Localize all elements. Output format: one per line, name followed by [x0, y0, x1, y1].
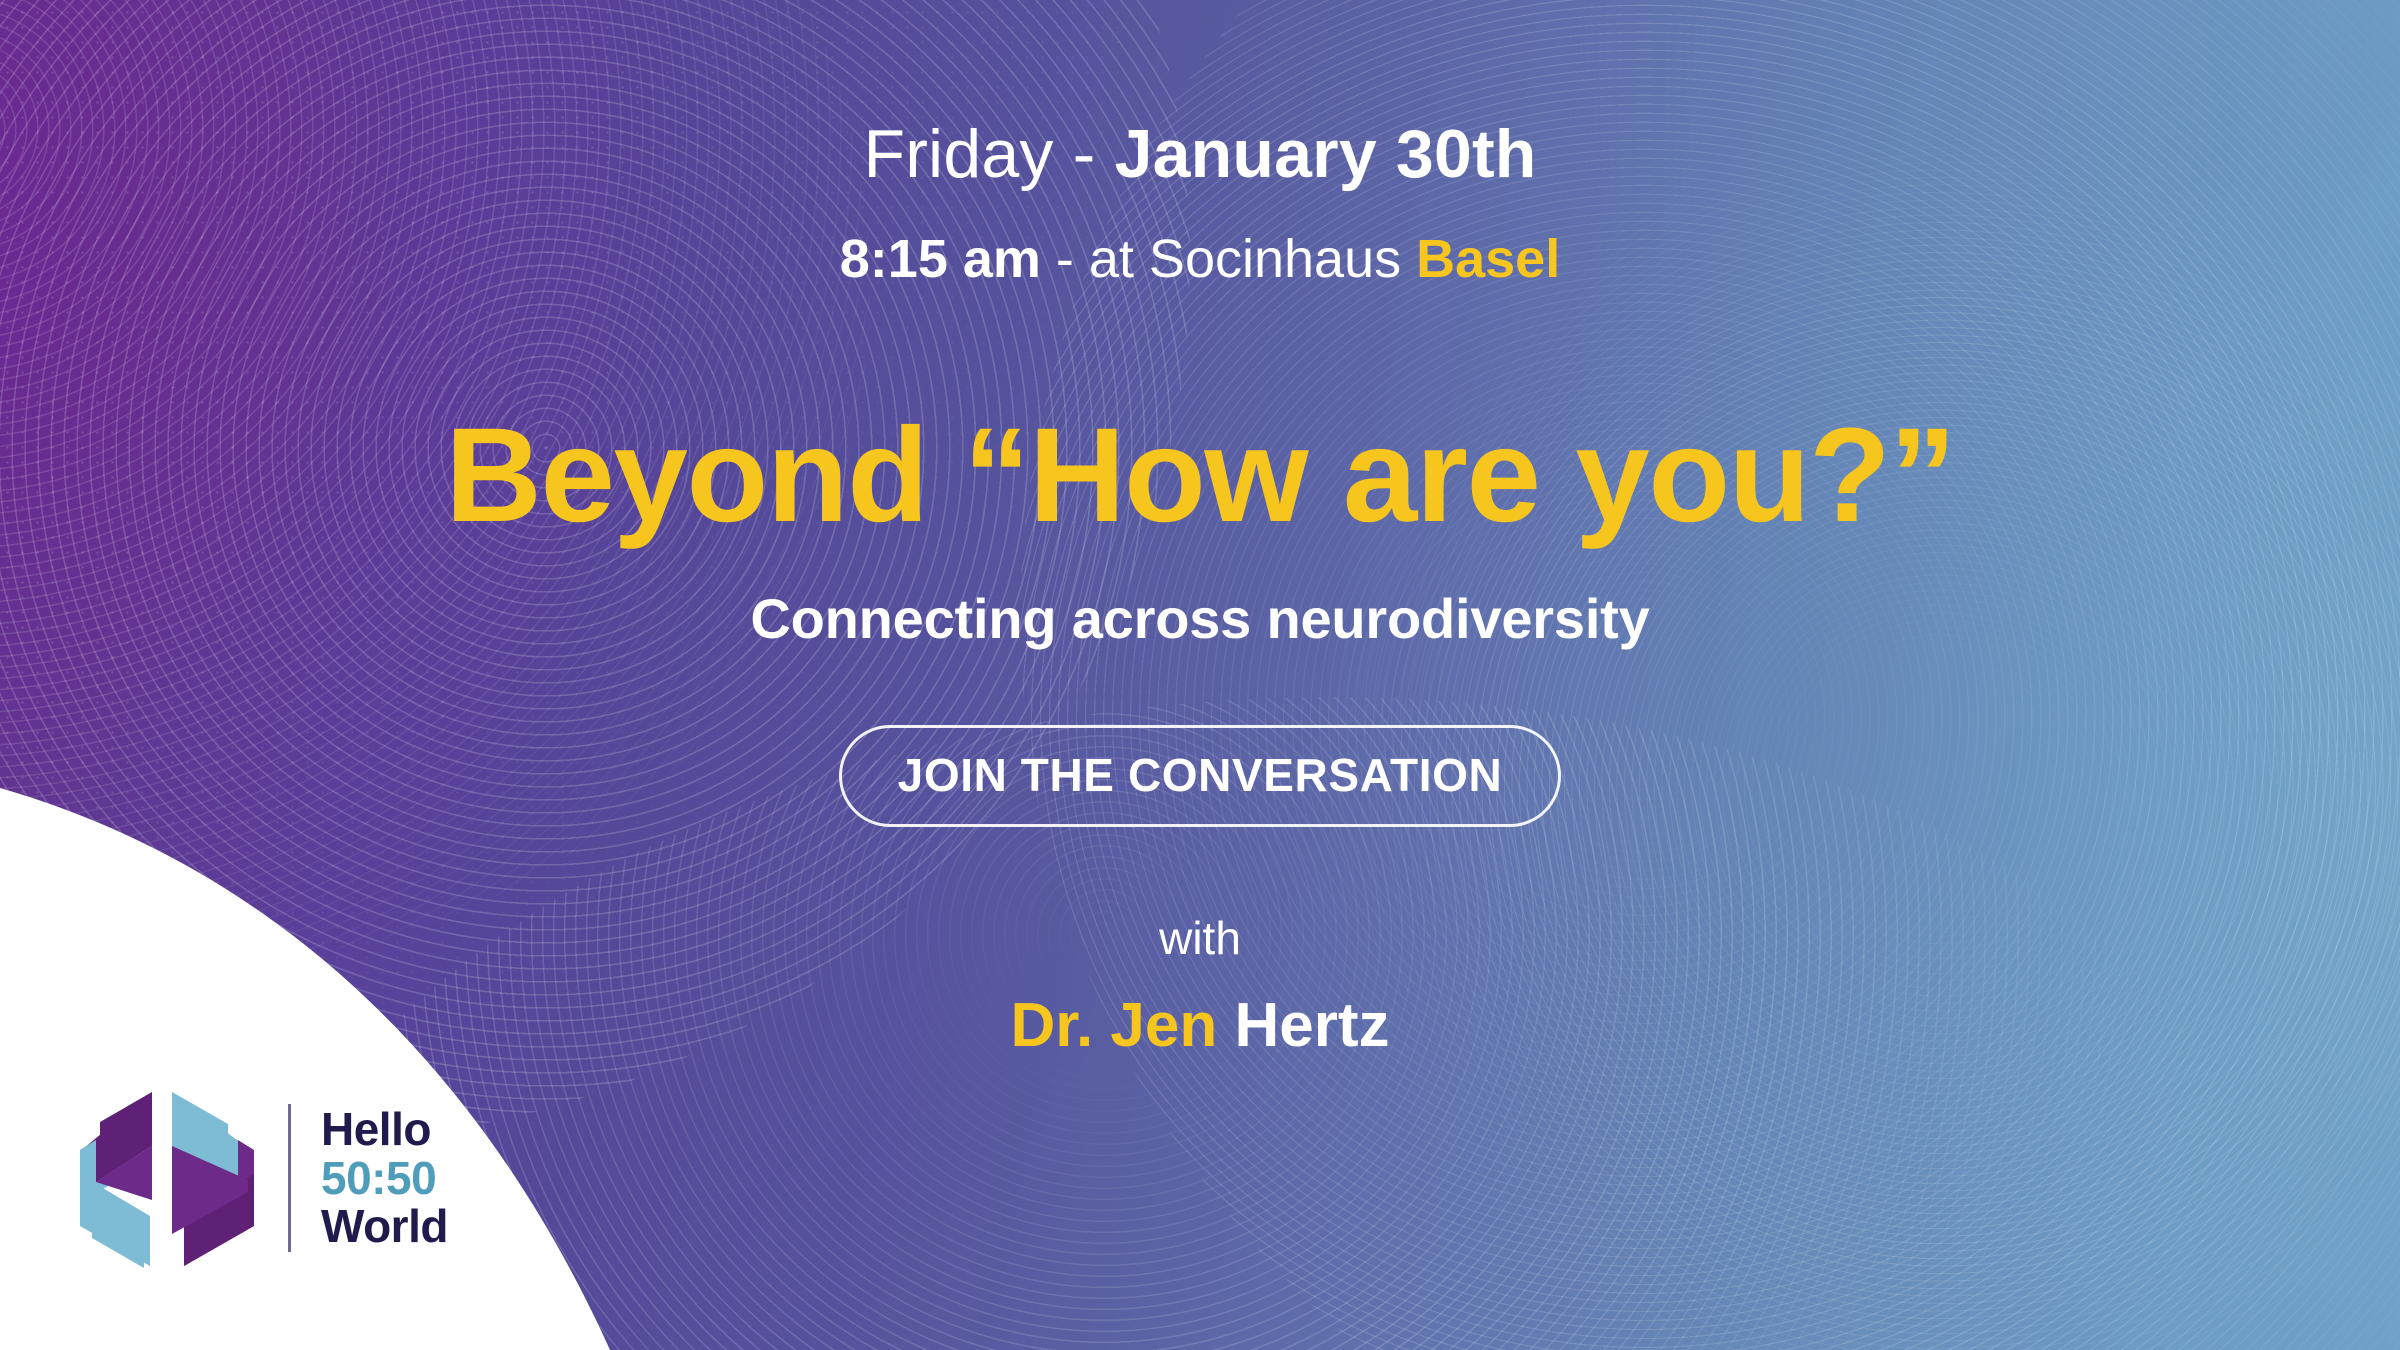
speaker-name-plain: Hertz — [1217, 991, 1389, 1060]
event-banner: Friday - January 30th 8:15 am - at Socin… — [0, 0, 2400, 1350]
join-the-conversation-button[interactable]: JOIN THE CONVERSATION — [839, 725, 1562, 827]
event-venue-city: Basel — [1416, 229, 1560, 289]
logo-divider — [288, 1104, 291, 1252]
speaker-name-accent: Dr. Jen — [1010, 991, 1217, 1060]
page-subtitle: Connecting across neurodiversity — [0, 591, 2400, 647]
speaker-intro-label: with — [0, 915, 2400, 961]
logo-word-hello: Hello — [321, 1105, 448, 1154]
logo-wordmark: Hello 50:50 World — [317, 1105, 448, 1251]
page-title: Beyond “How are you?” — [0, 406, 2400, 545]
cta-container: JOIN THE CONVERSATION — [0, 725, 2400, 827]
date-separator: - — [1054, 116, 1115, 192]
speaker-name: Dr. Jen Hertz — [0, 995, 2400, 1057]
logo-word-world: World — [321, 1202, 448, 1251]
content-column: Friday - January 30th 8:15 am - at Socin… — [0, 0, 2400, 1057]
event-venue-prefix: - at Socinhaus — [1041, 229, 1416, 289]
event-time-value: 8:15 am — [840, 229, 1041, 289]
logo-word-5050: 50:50 — [321, 1154, 448, 1203]
event-day-label: Friday — [863, 116, 1053, 192]
event-time-line: 8:15 am - at Socinhaus Basel — [0, 232, 2400, 286]
event-date-line: Friday - January 30th — [0, 120, 2400, 188]
event-date-value: January 30th — [1115, 116, 1537, 192]
brand-logo-lockup[interactable]: Hello 50:50 World — [72, 1088, 448, 1268]
chevron-bracket-mark-icon — [72, 1088, 262, 1268]
